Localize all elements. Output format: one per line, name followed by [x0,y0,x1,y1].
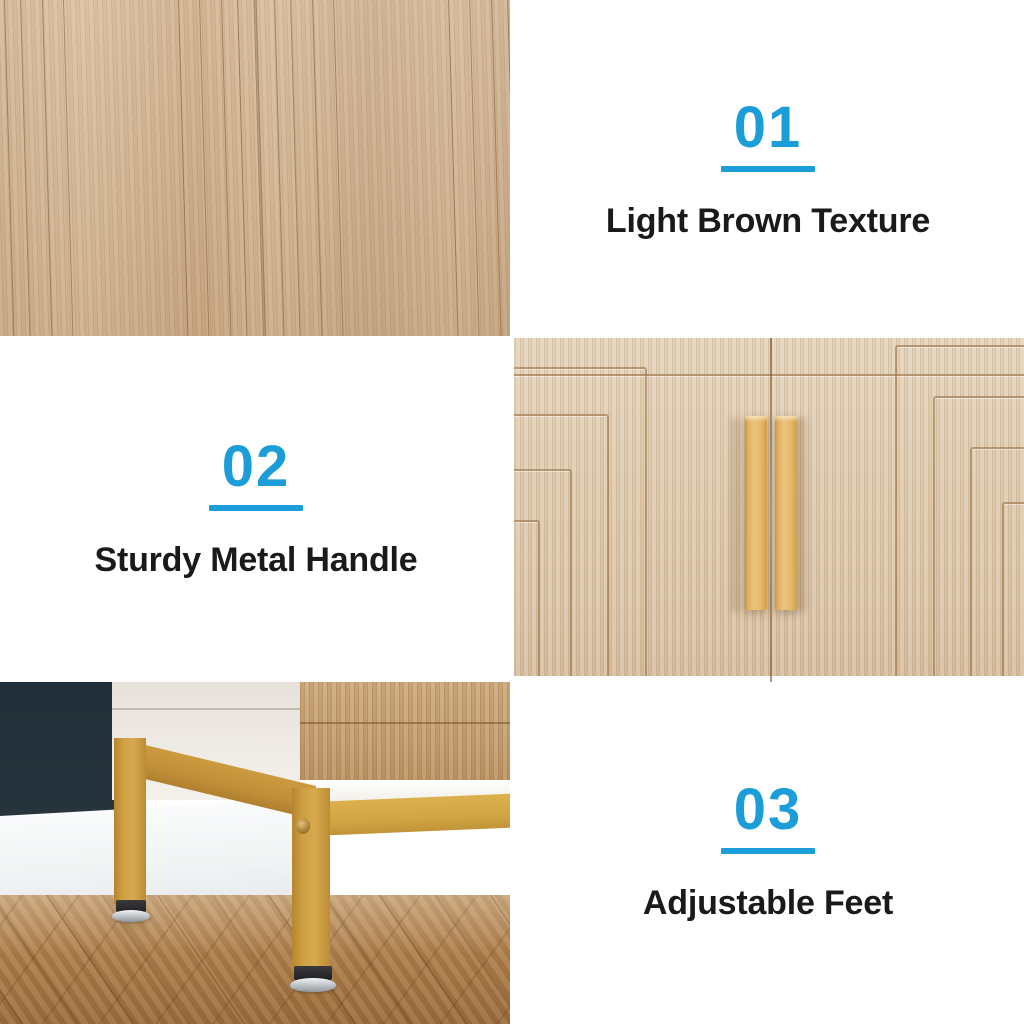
chrome-glide-front [290,978,336,992]
right-door-panel [255,0,512,340]
gold-bar-handles-closeup-photo [512,338,1024,682]
feature-02-number-block: 02 [209,438,303,511]
feature-03-caption: Adjustable Feet [643,884,893,923]
feature-03-number-block: 03 [721,781,815,854]
engraved-corner-4 [1002,502,1024,682]
feature-01-caption-panel: 01 Light Brown Texture [512,0,1024,340]
feature-01-number-block: 01 [721,99,815,172]
gold-handle-right [775,416,797,610]
wall-dark-navy [0,680,116,822]
door-groove-inner [330,0,459,340]
cabinet-doors-wood-texture-photo [0,0,512,340]
gold-rail-side [312,794,512,836]
room-scene [0,680,512,1024]
feature-01-number: 01 [721,99,815,157]
wood-door-surface [0,0,512,340]
feature-02-caption: Sturdy Metal Handle [94,541,417,580]
leg-reflection-back [118,920,146,938]
gold-leg-front [292,788,330,970]
cabinet-wood-door-front [300,680,512,780]
horizontal-divider-lower [0,676,1024,682]
vertical-divider [510,0,514,1024]
feature-02-number: 02 [209,438,303,496]
feature-03-number: 03 [721,781,815,839]
floor-highlight [0,895,512,955]
gold-leg-adjustable-feet-photo [0,680,512,1024]
gold-leg-back [114,738,146,904]
feature-02-underline [209,505,303,511]
cabinet-door-groove [300,722,512,724]
feature-01-underline [721,166,815,172]
product-feature-infographic: 01 Light Brown Texture 02 Sturdy Metal H… [0,0,1024,1024]
feature-03-caption-panel: 03 Adjustable Feet [512,680,1024,1024]
gold-handle-left [745,416,767,610]
door-groove-inner [60,0,189,340]
leg-screw [296,818,310,834]
handle-shadow-left [731,418,745,612]
leg-reflection-front [296,990,332,1012]
left-door-panel [0,0,265,340]
feature-02-caption-panel: 02 Sturdy Metal Handle [0,336,512,682]
handle-scene [512,338,1024,682]
door-center-seam [770,338,772,682]
engraved-corner-4 [512,520,540,682]
chrome-glide-back [112,910,150,922]
feature-03-underline [721,848,815,854]
feature-01-caption: Light Brown Texture [606,202,930,241]
handle-shadow-right [797,418,811,612]
